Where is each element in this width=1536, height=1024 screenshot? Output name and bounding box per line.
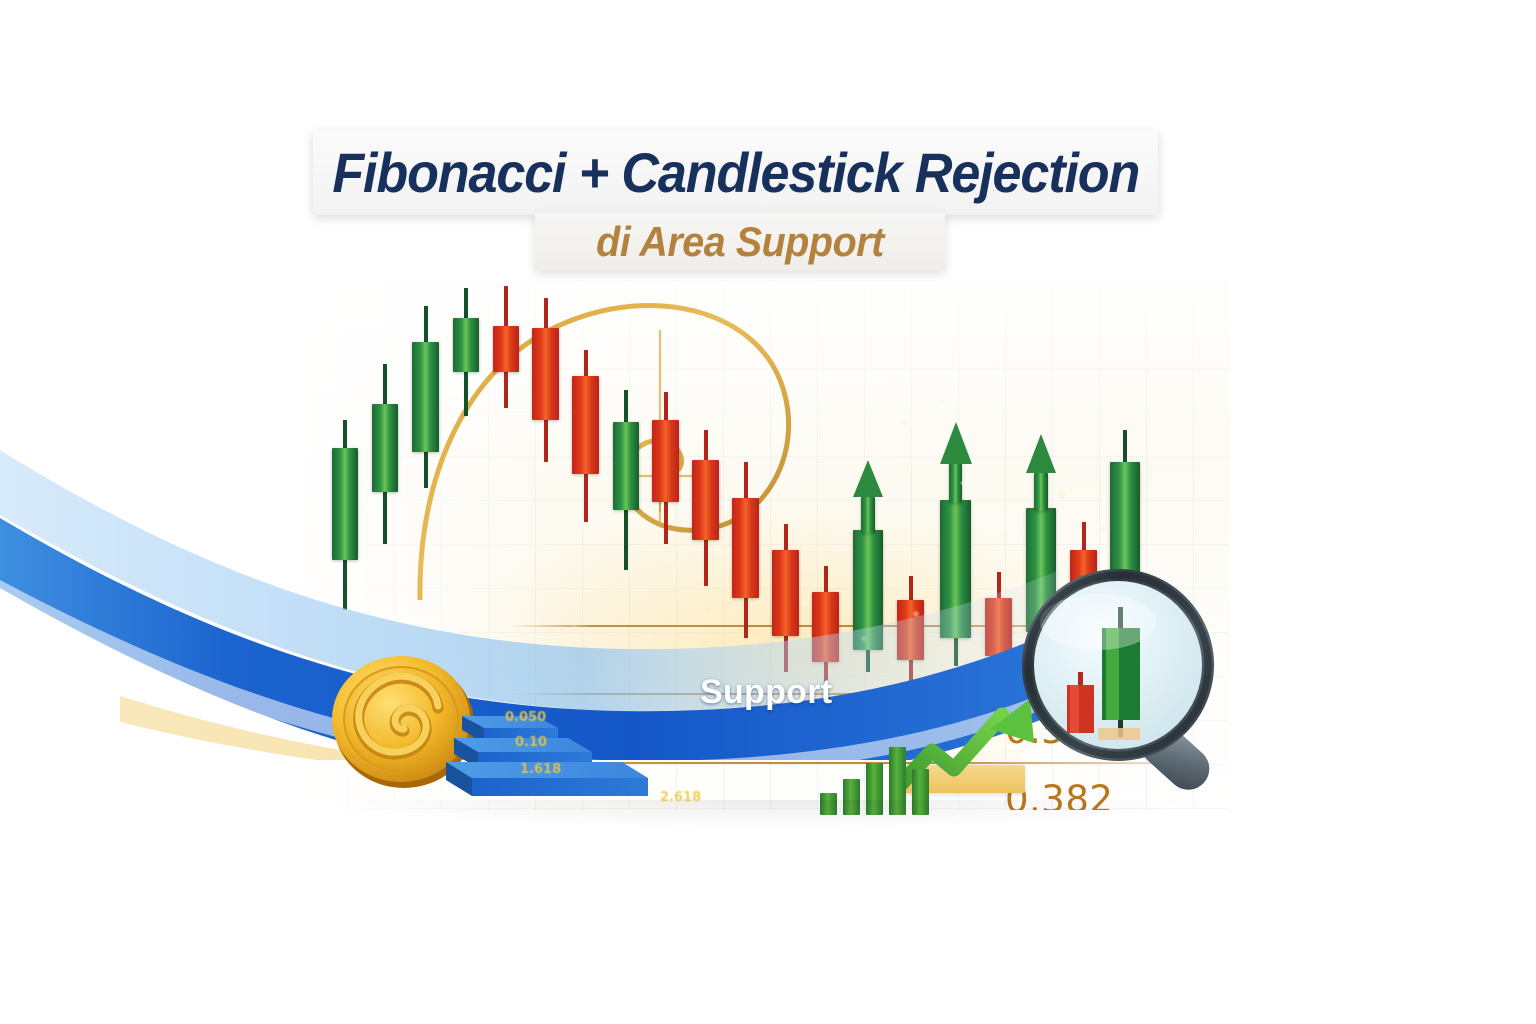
rejection-arrow-head <box>853 460 883 497</box>
candle-body <box>812 592 839 662</box>
sparkle <box>630 530 636 536</box>
candle-16-bullish <box>940 280 971 710</box>
candle-body <box>453 318 479 372</box>
sparkle <box>940 400 945 405</box>
candle-10-bearish <box>692 280 719 710</box>
candle-12-bearish <box>772 280 799 710</box>
candle-3-bullish <box>412 280 439 710</box>
sparkle <box>860 635 867 642</box>
sparkle <box>600 580 612 592</box>
sparkle <box>752 642 758 648</box>
candle-13-bearish <box>812 280 839 710</box>
sparkle <box>1058 490 1067 499</box>
fibonacci-stair-blocks <box>440 690 770 810</box>
candle-body <box>732 498 759 598</box>
sparkle <box>820 530 826 536</box>
candle-body <box>985 598 1012 656</box>
candle-body <box>532 328 559 420</box>
sparkle <box>730 480 735 485</box>
candle-2-bullish <box>372 280 398 710</box>
candle-15-bearish <box>897 280 924 710</box>
sparkle <box>700 610 709 619</box>
candle-body <box>372 404 398 492</box>
magnifying-glass-icon <box>1010 560 1260 810</box>
sparkle <box>645 632 652 639</box>
candle-body <box>332 448 358 560</box>
sparkle <box>1180 456 1186 462</box>
candle-17-bearish <box>985 280 1012 710</box>
candle-4-bullish <box>453 280 479 710</box>
candle-body <box>940 500 971 638</box>
candle-body <box>853 530 883 650</box>
sparkle <box>1100 526 1106 532</box>
candle-9-bearish <box>652 280 679 710</box>
sparkle <box>912 610 920 618</box>
sparkle <box>960 480 966 486</box>
rejection-arrow-shaft <box>861 497 874 533</box>
infographic-canvas: 0.6180.50.382 <box>0 0 1536 1024</box>
stair-number-2: 1.618 <box>520 762 561 777</box>
candle-1-bullish <box>332 280 358 710</box>
candle-7-bearish <box>572 280 599 710</box>
sparkle <box>1000 530 1007 537</box>
candle-6-bearish <box>532 280 559 710</box>
subtitle-card: di Area Support <box>535 213 945 271</box>
rejection-arrow-head <box>940 422 972 464</box>
page-subtitle: di Area Support <box>596 218 884 266</box>
candle-body <box>897 600 924 660</box>
candle-14-bullish <box>853 280 883 710</box>
panel-shadow <box>320 800 1220 830</box>
sparkle <box>900 420 907 427</box>
candle-body <box>692 460 719 540</box>
sparkle <box>570 620 578 628</box>
candle-body <box>412 342 439 452</box>
candle-body <box>572 376 599 474</box>
candle-body <box>493 326 519 372</box>
candle-body <box>652 420 679 502</box>
rejection-arrow-shaft <box>1034 473 1047 511</box>
stair-number-0: 0.050 <box>505 710 546 725</box>
title-card: Fibonacci + Candlestick Rejection <box>313 130 1158 215</box>
candle-body <box>772 550 799 636</box>
candle-5-bearish <box>493 280 519 710</box>
sparkle <box>800 598 810 608</box>
candle-8-bullish <box>613 280 639 710</box>
candle-body <box>613 422 639 510</box>
page-title: Fibonacci + Candlestick Rejection <box>332 140 1139 205</box>
rejection-arrow-head <box>1026 434 1056 473</box>
stair-number-1: 0.10 <box>515 735 547 750</box>
